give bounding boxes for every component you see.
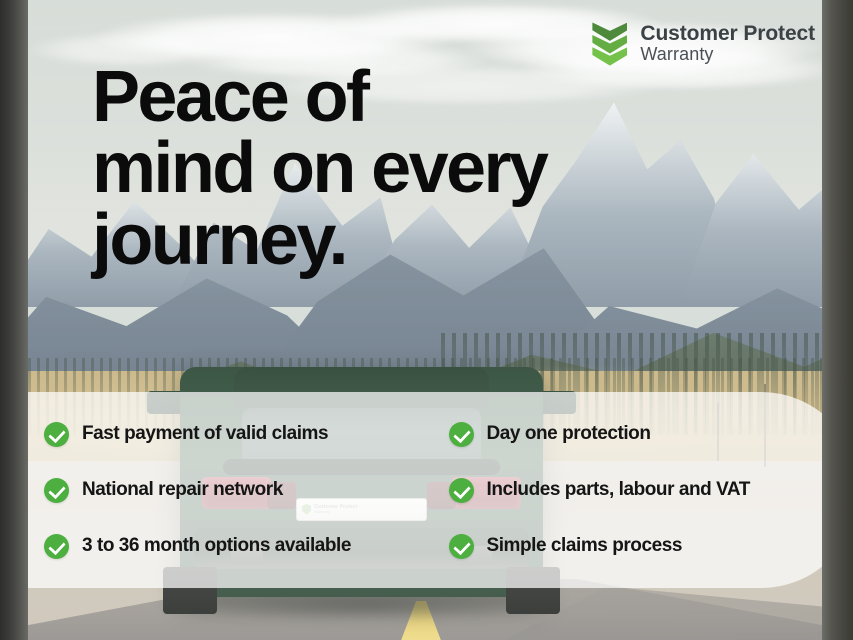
features-list: Fast payment of valid claims Day one pro… (0, 392, 853, 588)
brand-subtitle: Warranty (640, 45, 815, 65)
check-circle-icon (44, 422, 69, 447)
brand-logo: Customer Protect Warranty (592, 22, 815, 65)
feature-item: 3 to 36 month options available (44, 534, 449, 559)
check-circle-icon (44, 478, 69, 503)
feature-item: National repair network (44, 478, 449, 503)
brand-title: Customer Protect (640, 22, 815, 45)
headline-line-3: journey. (92, 205, 546, 276)
feature-label: Day one protection (487, 423, 651, 445)
headline-line-2: mind on every (92, 133, 546, 204)
feature-label: National repair network (82, 479, 283, 501)
check-circle-icon (449, 478, 474, 503)
check-circle-icon (449, 422, 474, 447)
feature-label: Includes parts, labour and VAT (487, 479, 750, 501)
feature-item: Fast payment of valid claims (44, 422, 449, 447)
feature-item: Simple claims process (449, 534, 853, 559)
headline: Peace of mind on every journey. (92, 62, 546, 276)
feature-label: 3 to 36 month options available (82, 535, 351, 557)
promo-banner: Customer Protect Warranty Customer Prote… (0, 0, 853, 640)
brand-wordmark: Customer Protect Warranty (640, 22, 815, 65)
feature-label: Fast payment of valid claims (82, 423, 328, 445)
feature-label: Simple claims process (487, 535, 682, 557)
check-circle-icon (449, 534, 474, 559)
feature-item: Day one protection (449, 422, 853, 447)
check-circle-icon (44, 534, 69, 559)
shield-chevron-icon (592, 22, 627, 64)
headline-line-1: Peace of (92, 62, 546, 133)
feature-item: Includes parts, labour and VAT (449, 478, 853, 503)
